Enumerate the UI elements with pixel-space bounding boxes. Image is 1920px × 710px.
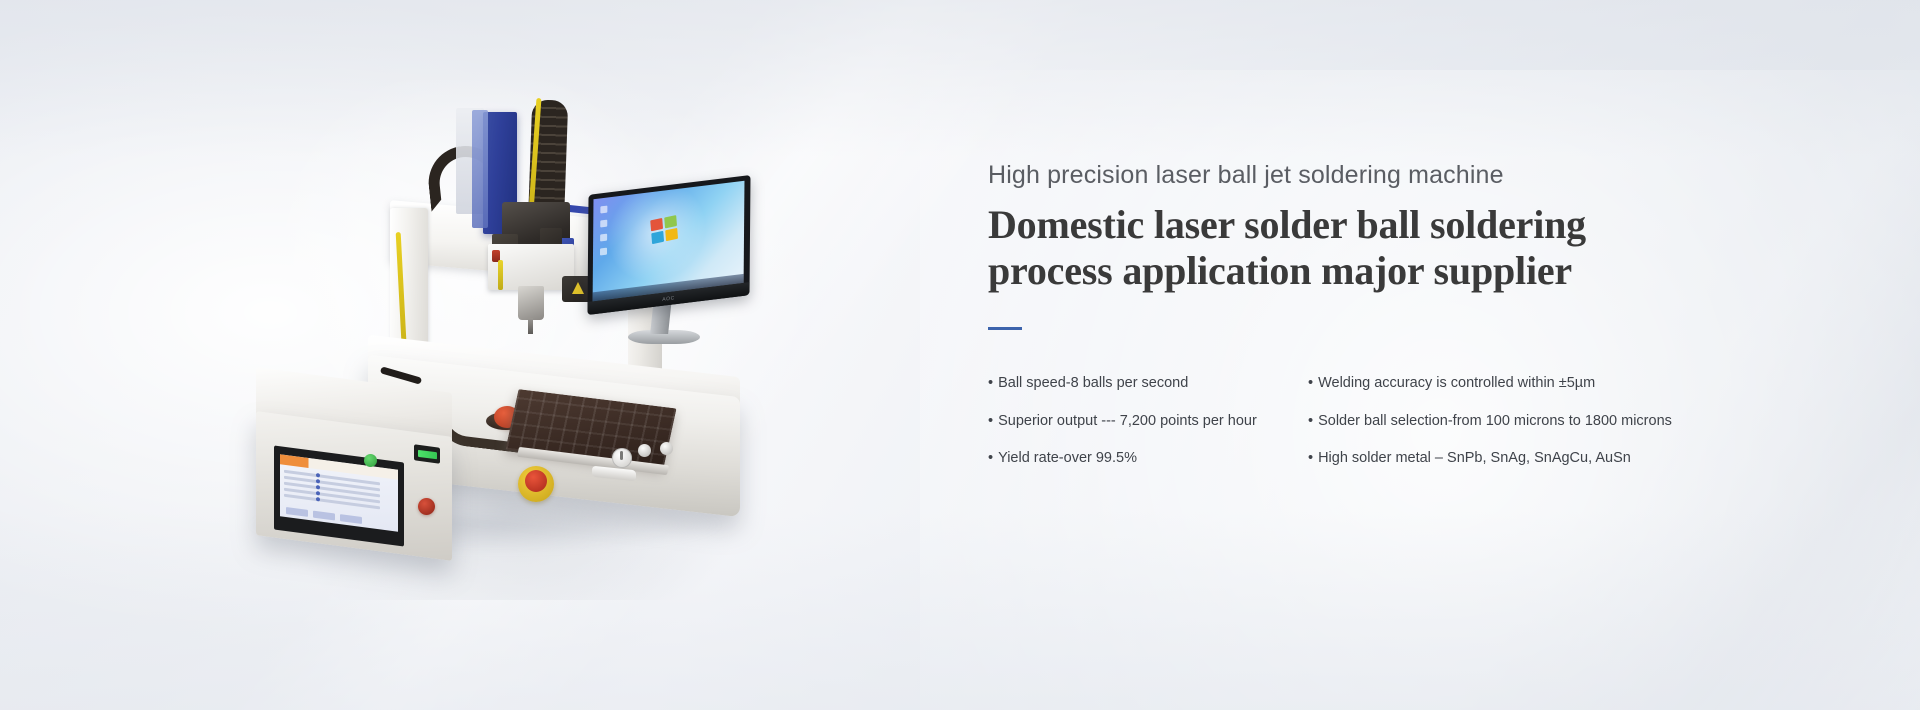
product-photo: AOC [240,80,760,600]
desktop-icon-2 [600,220,607,228]
windows-logo-icon [650,215,678,244]
controller-ui-dot [316,479,320,484]
spec-text: Ball speed-8 balls per second [998,375,1188,391]
banner-headline: Domestic laser solder ball soldering pro… [988,202,1668,295]
selector-knob[interactable] [612,448,632,468]
controller-ui-button[interactable] [286,507,308,517]
controller-power-button[interactable] [418,498,435,515]
headline-line-2: process application major supplier [988,248,1572,293]
controller-green-indicator [364,454,377,467]
solder-ball-nozzle [518,286,544,320]
spec-text: Superior output --- 7,200 points per hou… [998,413,1257,429]
banner-content: High precision laser ball jet soldering … [988,160,1788,487]
controller-ui-dot [316,497,320,502]
spec-item: •Yield rate-over 99.5% [988,449,1308,487]
bullet-icon: • [988,412,993,431]
spec-column-right: •Welding accuracy is controlled within ±… [1308,374,1788,488]
spec-text: Welding accuracy is controlled within ±5… [1318,375,1595,391]
bullet-icon: • [1308,374,1313,393]
desktop-icon-3 [600,234,607,242]
spec-text: High solder metal – SnPb, SnAg, SnAgCu, … [1318,450,1631,466]
panel-button-2[interactable] [660,442,673,455]
controller-ui-button[interactable] [313,511,335,521]
spec-item: •Ball speed-8 balls per second [988,374,1308,412]
nozzle-tip [528,318,533,334]
aoc-monitor: AOC [587,175,750,315]
accent-divider [988,327,1022,330]
bullet-icon: • [988,449,993,468]
controller-digital-display [414,444,440,463]
controller-ui-button[interactable] [340,514,362,524]
spec-item: •High solder metal – SnPb, SnAg, SnAgCu,… [1308,449,1788,487]
spec-item: •Superior output --- 7,200 points per ho… [988,412,1308,450]
bullet-icon: • [988,374,993,393]
spec-text: Yield rate-over 99.5% [998,450,1137,466]
desktop-icon-4 [600,248,607,256]
monitor-brand-label: AOC [662,295,675,303]
spec-item: •Welding accuracy is controlled within ±… [1308,374,1788,412]
bullet-icon: • [1308,449,1313,468]
bullet-icon: • [1308,412,1313,431]
spec-list: •Ball speed-8 balls per second •Superior… [988,374,1788,488]
banner-eyebrow: High precision laser ball jet soldering … [988,160,1788,190]
panel-button-1[interactable] [638,444,651,457]
controller-ui-dot [316,491,320,496]
desktop-icon-1 [600,206,607,214]
spec-item: •Solder ball selection-from 100 microns … [1308,412,1788,450]
spec-text: Solder ball selection-from 100 microns t… [1318,413,1672,429]
headline-line-1: Domestic laser solder ball soldering [988,202,1586,247]
spec-column-left: •Ball speed-8 balls per second •Superior… [988,374,1308,488]
laser-warning-icon [572,282,584,294]
controller-ui-dot [316,473,320,478]
controller-ui-dot [316,485,320,490]
laser-module-face [472,110,488,228]
hero-banner: AOC [0,0,1920,710]
emergency-stop-button[interactable] [525,470,547,492]
head-yellow-rod [498,260,503,290]
